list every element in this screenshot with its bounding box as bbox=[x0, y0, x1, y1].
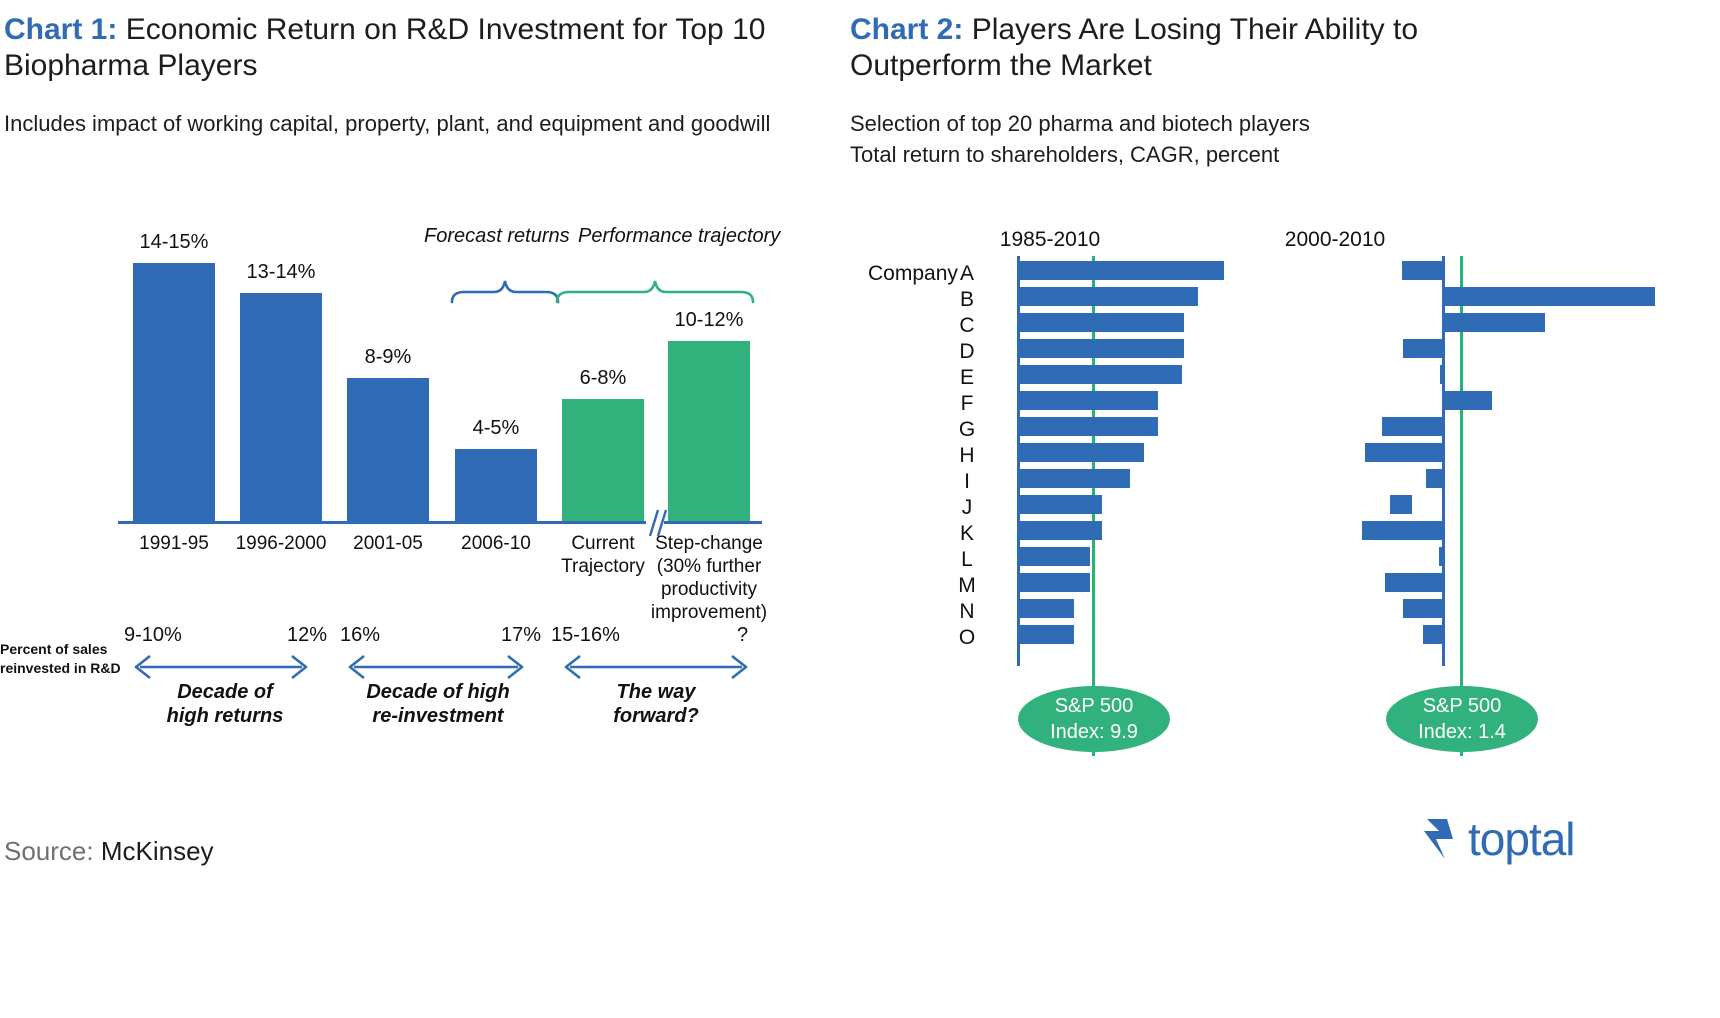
infographic-page: Chart 1: Economic Return on R&D Investme… bbox=[0, 0, 1720, 1018]
company-axis-title: Company bbox=[868, 262, 958, 286]
chart-1-baseline-right bbox=[664, 521, 762, 524]
toptal-mark-icon bbox=[1420, 817, 1460, 861]
bar-right-M bbox=[1385, 573, 1442, 592]
company-label-C: C bbox=[954, 314, 980, 338]
sp500-badge-left-line1: S&P 500 bbox=[1055, 693, 1134, 719]
chart-2-subtitle-line1: Selection of top 20 pharma and biotech p… bbox=[850, 111, 1310, 136]
bar-left-J bbox=[1020, 495, 1102, 514]
bar-right-O bbox=[1423, 625, 1442, 644]
reinvest-caption-1: Decade ofhigh returns bbox=[150, 680, 300, 728]
bar-2001-05 bbox=[347, 378, 429, 521]
company-label-B: B bbox=[954, 288, 980, 312]
company-label-L: L bbox=[954, 548, 980, 572]
bar-step-change bbox=[668, 341, 750, 521]
bar-left-A bbox=[1020, 261, 1224, 280]
bar-right-L bbox=[1439, 547, 1443, 566]
company-label-H: H bbox=[954, 444, 980, 468]
chart-1-panel: Chart 1: Economic Return on R&D Investme… bbox=[0, 0, 840, 1018]
chart-1-plot-area: Forecast returns Performance trajectory … bbox=[0, 196, 840, 616]
company-label-K: K bbox=[954, 522, 980, 546]
bar-value-1996-2000: 13-14% bbox=[220, 261, 342, 284]
period-heading-2000-2010: 2000-2010 bbox=[1245, 228, 1425, 252]
chart-1-reinvestment-annotations: 9-10% 12% Decade ofhigh returns 16% 17% … bbox=[0, 612, 840, 752]
reinvest-end-1: 12% bbox=[287, 624, 327, 647]
sp500-badge-right-line2: Index: 1.4 bbox=[1418, 719, 1506, 745]
bar-left-H bbox=[1020, 443, 1144, 462]
company-label-M: M bbox=[954, 574, 980, 598]
toptal-wordmark: toptal bbox=[1468, 812, 1575, 866]
sp500-badge-right-line1: S&P 500 bbox=[1423, 693, 1502, 719]
chart-1-title-lead: Chart 1: bbox=[4, 13, 117, 46]
reinvest-start-2: 16% bbox=[340, 624, 380, 647]
sp500-badge-left: S&P 500 Index: 9.9 bbox=[1018, 686, 1170, 752]
reinvest-caption-2: Decade of highre-investment bbox=[363, 680, 513, 728]
bar-right-A bbox=[1402, 261, 1442, 280]
sp500-badge-right: S&P 500 Index: 1.4 bbox=[1386, 686, 1538, 752]
bar-right-H bbox=[1365, 443, 1442, 462]
bar-2006-10 bbox=[455, 449, 537, 521]
reinvest-arrow-1-icon bbox=[126, 654, 316, 680]
bar-left-O bbox=[1020, 625, 1074, 644]
bar-right-J bbox=[1390, 495, 1412, 514]
bar-right-E bbox=[1440, 365, 1444, 384]
company-label-O: O bbox=[954, 626, 980, 650]
source-label: Source: bbox=[4, 836, 101, 866]
source-value: McKinsey bbox=[101, 836, 214, 866]
reinvest-arrow-3-icon bbox=[556, 654, 756, 680]
reinvest-end-3: ? bbox=[737, 624, 748, 647]
bar-1996-2000 bbox=[240, 293, 322, 521]
bar-right-B bbox=[1445, 287, 1655, 306]
chart-1-baseline bbox=[118, 521, 646, 524]
bar-left-N bbox=[1020, 599, 1074, 618]
chart-2-plot-area: 1985-2010 2000-2010 Company A B C D E F … bbox=[840, 196, 1720, 796]
period-heading-1985-2010: 1985-2010 bbox=[960, 228, 1140, 252]
bar-right-C bbox=[1445, 313, 1545, 332]
reinvest-start-1: 9-10% bbox=[124, 624, 182, 647]
bar-left-C bbox=[1020, 313, 1184, 332]
company-label-A: A bbox=[954, 262, 980, 286]
bar-right-I bbox=[1426, 469, 1442, 488]
chart-1-subtitle: Includes impact of working capital, prop… bbox=[4, 108, 784, 139]
bar-left-F bbox=[1020, 391, 1158, 410]
sp500-badge-left-line2: Index: 9.9 bbox=[1050, 719, 1138, 745]
company-label-J: J bbox=[954, 496, 980, 520]
bar-current-trajectory bbox=[562, 399, 644, 521]
bar-value-2001-05: 8-9% bbox=[327, 346, 449, 369]
bar-left-I bbox=[1020, 469, 1130, 488]
bar-left-M bbox=[1020, 573, 1090, 592]
company-label-N: N bbox=[954, 600, 980, 624]
source-line: Source: McKinsey bbox=[4, 836, 214, 867]
chart-2-title-lead: Chart 2: bbox=[850, 13, 963, 46]
company-label-I: I bbox=[954, 470, 980, 494]
reinvest-start-3: 15-16% bbox=[551, 624, 620, 647]
bar-left-G bbox=[1020, 417, 1158, 436]
reinvest-arrow-2-icon bbox=[340, 654, 532, 680]
bar-left-B bbox=[1020, 287, 1198, 306]
bar-left-D bbox=[1020, 339, 1184, 358]
bar-right-N bbox=[1403, 599, 1442, 618]
company-label-F: F bbox=[954, 392, 980, 416]
chart-2-subtitle-line2: Total return to shareholders, CAGR, perc… bbox=[850, 142, 1279, 167]
chart-2-title: Chart 2: Players Are Losing Their Abilit… bbox=[850, 12, 1570, 84]
chart-2-panel: Chart 2: Players Are Losing Their Abilit… bbox=[840, 0, 1720, 1018]
bar-value-step-change: 10-12% bbox=[648, 309, 770, 332]
company-label-G: G bbox=[954, 418, 980, 442]
bar-right-G bbox=[1382, 417, 1442, 436]
reinvest-caption-3: The wayforward? bbox=[586, 680, 726, 728]
chart-1-title: Chart 1: Economic Return on R&D Investme… bbox=[4, 12, 804, 84]
category-label-1996-2000: 1996-2000 bbox=[221, 532, 341, 555]
bar-right-F bbox=[1445, 391, 1492, 410]
bar-value-current-trajectory: 6-8% bbox=[542, 367, 664, 390]
category-label-1991-95: 1991-95 bbox=[114, 532, 234, 555]
bar-value-2006-10: 4-5% bbox=[435, 417, 557, 440]
toptal-logo: toptal bbox=[1420, 812, 1575, 866]
chart-2-subtitle: Selection of top 20 pharma and biotech p… bbox=[850, 108, 1570, 170]
category-label-2001-05: 2001-05 bbox=[328, 532, 448, 555]
bar-value-1991-95: 14-15% bbox=[113, 231, 235, 254]
category-label-step-change: Step-change(30% furtherproductivityimpro… bbox=[645, 532, 773, 624]
reinvest-end-2: 17% bbox=[501, 624, 541, 647]
bar-right-D bbox=[1403, 339, 1442, 358]
bar-left-K bbox=[1020, 521, 1102, 540]
bar-right-K bbox=[1362, 521, 1442, 540]
company-label-E: E bbox=[954, 366, 980, 390]
bar-left-L bbox=[1020, 547, 1090, 566]
bar-1991-95 bbox=[133, 263, 215, 521]
company-label-D: D bbox=[954, 340, 980, 364]
bar-left-E bbox=[1020, 365, 1182, 384]
chart-1-title-rest: Economic Return on R&D Investment for To… bbox=[4, 13, 765, 82]
category-label-2006-10: 2006-10 bbox=[436, 532, 556, 555]
